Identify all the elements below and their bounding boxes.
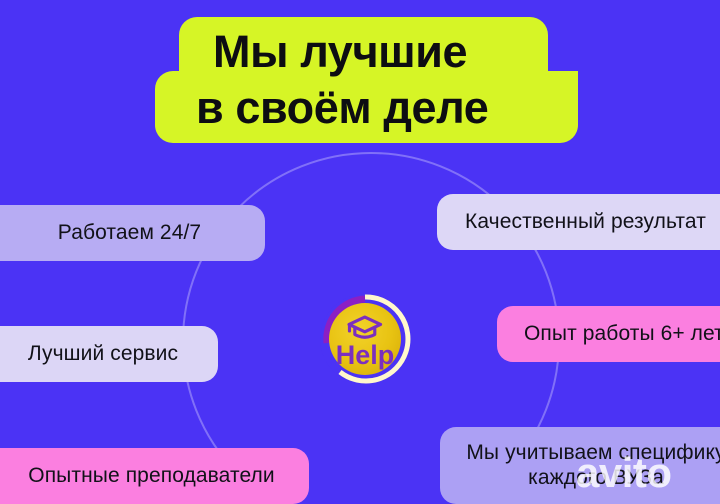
feature-chip-label: Мы учитываем специфику каждого ВУЗа	[460, 441, 720, 491]
feature-chip-working-hours: Работаем 24/7	[0, 205, 265, 261]
page-title-line-1: Мы лучшие	[213, 29, 467, 74]
feature-chip-university-specifics: Мы учитываем специфику каждого ВУЗа	[440, 427, 720, 504]
feature-chip-label: Лучший сервис	[28, 342, 178, 367]
promo-banner: Мы лучшие в своём деле Работаем 24/7 Луч…	[0, 0, 720, 504]
logo-wordmark: Help	[336, 340, 395, 370]
feature-chip-years-experience: Опыт работы 6+ лет	[497, 306, 720, 362]
help-logo: Help	[318, 292, 412, 386]
feature-chip-label: Опытные преподаватели	[28, 464, 274, 489]
feature-chip-quality-result: Качественный результат	[437, 194, 720, 250]
feature-chip-best-service: Лучший сервис	[0, 326, 218, 382]
feature-chip-label: Опыт работы 6+ лет	[524, 322, 720, 347]
feature-chip-label: Качественный результат	[465, 210, 706, 235]
feature-chip-experienced-teachers: Опытные преподаватели	[0, 448, 309, 504]
page-title-line-2: в своём деле	[196, 85, 488, 130]
feature-chip-label: Работаем 24/7	[58, 221, 201, 246]
